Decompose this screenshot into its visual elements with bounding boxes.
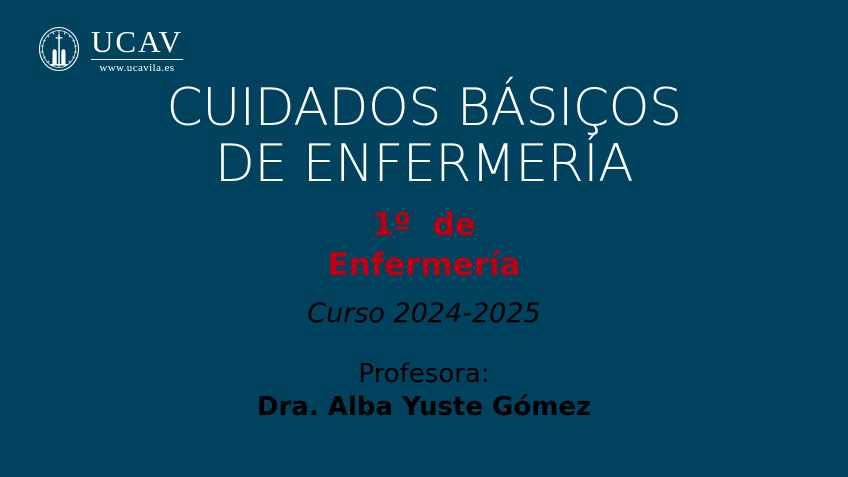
academic-year: Curso 2024-2025	[0, 298, 848, 330]
title-line-1: CUIDADOS BÁSIÇOS	[0, 80, 848, 136]
subtitle-line-1: 1º de	[0, 205, 848, 245]
academic-year-text: Curso 2024-2025	[0, 298, 848, 330]
professor-name: Dra. Alba Yuste Gómez	[0, 390, 848, 424]
ucav-logo[interactable]: UCAV www.ucavila.es	[36, 24, 183, 74]
page-title: CUIDADOS BÁSIÇOS DE ENFERMERÍA	[0, 80, 848, 192]
title-line-2: DE ENFERMERÍA	[0, 136, 848, 192]
ucav-circular-seal-icon	[36, 24, 82, 74]
wordmark-divider	[91, 59, 183, 60]
ucav-wordmark-text: UCAV	[91, 26, 183, 57]
course-level-subtitle: 1º de Enfermería	[0, 205, 848, 285]
professor-credit: Profesora: Dra. Alba Yuste Gómez	[0, 358, 848, 424]
ucav-wordmark: UCAV www.ucavila.es	[91, 24, 183, 74]
subtitle-line-2: Enfermería	[0, 245, 848, 285]
presentation-title-slide: UCAV www.ucavila.es CUIDADOS BÁSIÇOS DE …	[0, 0, 848, 477]
professor-label: Profesora:	[0, 358, 848, 390]
ucav-website-text: www.ucavila.es	[91, 62, 183, 74]
